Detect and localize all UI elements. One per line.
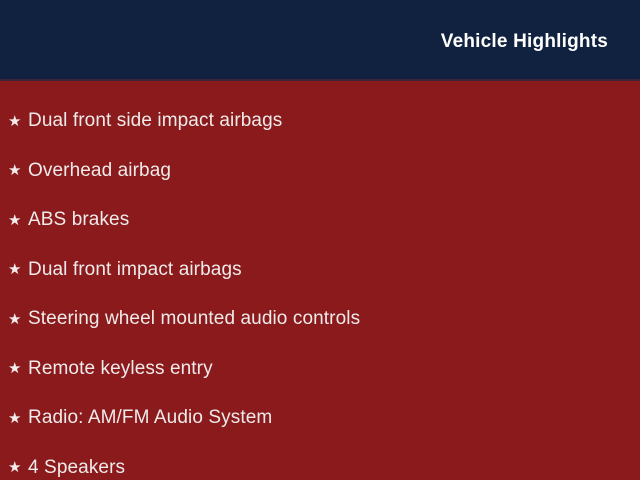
- star-icon: ★: [8, 460, 28, 475]
- page-title: Vehicle Highlights: [441, 32, 608, 51]
- highlights-body: ★ Dual front side impact airbags ★ Overh…: [0, 81, 640, 480]
- list-item: ★ Overhead airbag: [0, 147, 640, 197]
- list-item: ★ Radio: AM/FM Audio System: [0, 394, 640, 444]
- list-item-label: Overhead airbag: [28, 161, 171, 182]
- list-item-label: Remote keyless entry: [28, 359, 213, 380]
- panel-header: Vehicle Highlights: [0, 0, 640, 81]
- star-icon: ★: [8, 262, 28, 277]
- list-item-label: Dual front side impact airbags: [28, 111, 282, 132]
- list-item-label: 4 Speakers: [28, 458, 125, 479]
- list-item-label: Steering wheel mounted audio controls: [28, 309, 360, 330]
- star-icon: ★: [8, 213, 28, 228]
- list-item: ★ Dual front side impact airbags: [0, 97, 640, 147]
- list-item: ★ Steering wheel mounted audio controls: [0, 295, 640, 345]
- list-item: ★ Dual front impact airbags: [0, 246, 640, 296]
- list-item-label: ABS brakes: [28, 210, 129, 231]
- list-item-label: Dual front impact airbags: [28, 260, 242, 281]
- highlights-list: ★ Dual front side impact airbags ★ Overh…: [0, 97, 640, 480]
- vehicle-highlights-panel: Vehicle Highlights ★ Dual front side imp…: [0, 0, 640, 480]
- star-icon: ★: [8, 312, 28, 327]
- star-icon: ★: [8, 114, 28, 129]
- list-item: ★ ABS brakes: [0, 196, 640, 246]
- list-item: ★ Remote keyless entry: [0, 345, 640, 395]
- star-icon: ★: [8, 361, 28, 376]
- list-item-label: Radio: AM/FM Audio System: [28, 408, 272, 429]
- list-item: ★ 4 Speakers: [0, 444, 640, 480]
- star-icon: ★: [8, 163, 28, 178]
- star-icon: ★: [8, 411, 28, 426]
